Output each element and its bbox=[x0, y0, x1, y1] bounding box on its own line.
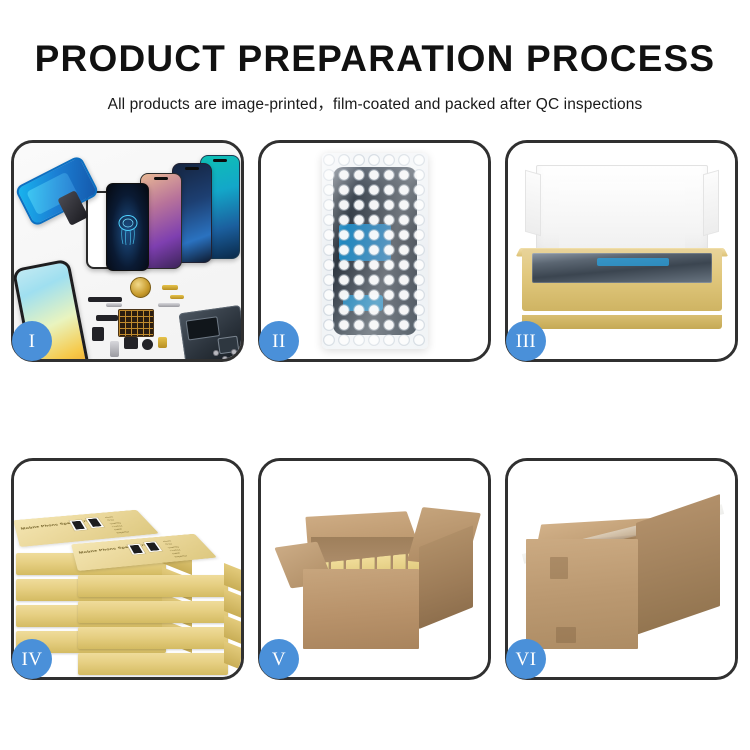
step-image-3 bbox=[508, 143, 735, 359]
step-badge-5: V bbox=[259, 639, 299, 679]
steps-grid: I II bbox=[11, 140, 739, 685]
step-image-4: Mobile Phone Spare Parts ModelColorQuant… bbox=[14, 461, 241, 677]
step-panel-1[interactable]: I bbox=[11, 140, 244, 362]
shipping-carton-sealed bbox=[524, 487, 722, 659]
mailer-box-open bbox=[522, 165, 722, 329]
step-image-5 bbox=[261, 461, 488, 677]
packed-product-inside bbox=[532, 253, 712, 283]
step-panel-5[interactable]: V bbox=[258, 458, 491, 680]
step-badge-1: I bbox=[12, 321, 52, 361]
box-tray-kraft bbox=[522, 249, 722, 311]
page-subtitle: All products are image-printed，film-coat… bbox=[0, 77, 750, 114]
step-image-1 bbox=[14, 143, 241, 359]
carton-front-panel bbox=[303, 569, 419, 649]
spare-parts-cluster bbox=[88, 275, 241, 359]
header: PRODUCT PREPARATION PROCESS All products… bbox=[0, 0, 750, 114]
plastic-sheen bbox=[322, 153, 428, 349]
step-panel-3[interactable]: III bbox=[505, 140, 738, 362]
step-badge-3: III bbox=[506, 321, 546, 361]
box-stack: Mobile Phone Spare Parts ModelColorQuant… bbox=[16, 479, 241, 675]
page-title: PRODUCT PREPARATION PROCESS bbox=[0, 0, 750, 77]
jellyfish-wallpaper-icon bbox=[115, 211, 141, 247]
product-preparation-infographic: PRODUCT PREPARATION PROCESS All products… bbox=[0, 0, 750, 750]
speaker-coil-icon bbox=[130, 277, 151, 298]
carton-right-panel bbox=[636, 494, 720, 635]
step-badge-2: II bbox=[259, 321, 299, 361]
lid-flap-right bbox=[703, 170, 719, 237]
step-panel-2[interactable]: II bbox=[258, 140, 491, 362]
chip-grid-icon bbox=[118, 309, 154, 337]
foam-insert bbox=[559, 182, 685, 252]
step-badge-6: VI bbox=[506, 639, 546, 679]
carton-front-face bbox=[526, 539, 638, 649]
carton-tab-lower bbox=[556, 627, 576, 643]
box-tray-front bbox=[522, 315, 722, 329]
step-panel-4[interactable]: Mobile Phone Spare Parts ModelColorQuant… bbox=[11, 458, 244, 680]
shipping-carton-open bbox=[281, 495, 475, 655]
screws-icon bbox=[214, 349, 241, 359]
step-panel-6[interactable]: VI bbox=[505, 458, 738, 680]
box-lid-white bbox=[536, 165, 708, 261]
phone-dark-screen bbox=[106, 183, 149, 271]
step-image-6 bbox=[508, 461, 735, 677]
step-image-2 bbox=[261, 143, 488, 359]
carton-tab-upper bbox=[550, 557, 568, 579]
step-badge-4: IV bbox=[12, 639, 52, 679]
lid-flap-left bbox=[525, 170, 541, 237]
bubble-wrap-package bbox=[322, 153, 428, 349]
